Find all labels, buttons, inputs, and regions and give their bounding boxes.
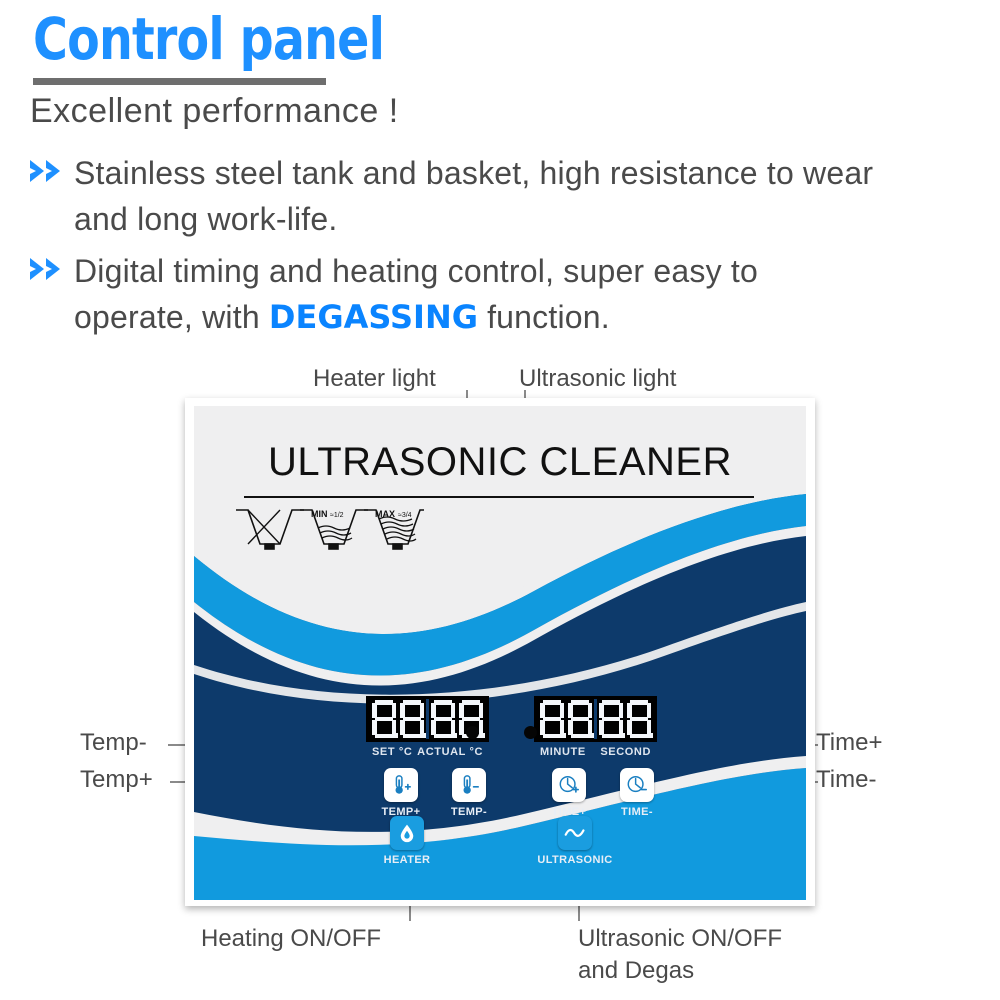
callout-ultrasonic-onoff: Ultrasonic ON/OFF and Degas [578,923,782,987]
svg-text:MAX: MAX [375,509,395,519]
heater-label: HEATER [352,854,462,866]
clock-plus-icon [558,774,580,796]
svg-text:≈3/4: ≈3/4 [398,512,412,519]
feature-line-2-post: function. [478,299,610,335]
brand-title: ULTRASONIC CLEANER [194,440,806,485]
temp-minus-label: TEMP- [414,806,524,818]
actual-temp-label: ACTUAL °C [417,746,483,758]
callout-ultrasonic-onoff-line1: Ultrasonic ON/OFF [578,925,782,952]
ultrasonic-indicator-light [524,726,537,739]
clock-minus-icon [626,774,648,796]
page-root: Control panel Excellent performance ! St… [0,0,1000,1000]
callout-heater-light: Heater light [313,365,436,393]
svg-text:MIN: MIN [311,509,328,519]
callout-ultrasonic-light: Ultrasonic light [519,365,676,393]
seven-segment-digit [430,699,456,739]
seven-segment-digit [567,699,593,739]
seven-segment-digit [371,699,397,739]
thermometer-minus-icon [458,774,480,796]
ultrasonic-button[interactable] [558,816,592,850]
callout-temp-plus: Temp+ [80,766,153,794]
feature-text: Digital timing and heating control, supe… [74,248,758,340]
feature-line-1: Stainless steel tank and basket, high re… [74,155,873,191]
time-minus-button[interactable] [620,768,654,802]
seven-segment-digit [626,699,652,739]
list-item: Stainless steel tank and basket, high re… [28,150,983,242]
chevron-double-right-icon [28,150,74,196]
heater-button[interactable] [390,816,424,850]
callout-time-minus: Time- [816,766,876,794]
brand-underline [244,496,754,498]
feature-text: Stainless steel tank and basket, high re… [74,150,873,242]
time-display: MINUTE SECOND [534,696,657,758]
temperature-display-labels: SET °C ACTUAL °C [366,746,489,758]
page-subtitle: Excellent performance ! [30,92,399,131]
list-item: Digital timing and heating control, supe… [28,248,983,340]
feature-line-2-pre: operate, with [74,299,269,335]
page-title: Control panel [33,8,384,70]
control-panel: ULTRASONIC CLEANER [185,398,815,906]
feature-list: Stainless steel tank and basket, high re… [28,150,983,346]
degassing-highlight: DEGASSING [269,298,478,336]
minute-label: MINUTE [540,746,586,758]
heater-indicator-light [466,726,479,739]
control-panel-face: ULTRASONIC CLEANER [194,406,806,900]
time-plus-button[interactable] [552,768,586,802]
feature-line-1: Digital timing and heating control, supe… [74,253,758,289]
tank-level-icons: MIN ≈1/2 MAX ≈3/4 [234,504,424,557]
ultrasonic-label: ULTRASONIC [520,854,630,866]
set-temp-label: SET °C [372,746,412,758]
time-digits [534,696,657,742]
svg-text:≈1/2: ≈1/2 [330,512,344,519]
callout-temp-minus: Temp- [80,729,147,757]
seven-segment-digit [399,699,425,739]
callout-ultrasonic-onoff-line2: and Degas [578,957,694,984]
sound-wave-icon [564,823,586,843]
time-display-labels: MINUTE SECOND [534,746,657,758]
thermometer-plus-icon [390,774,412,796]
second-label: SECOND [600,746,651,758]
callout-heating-onoff: Heating ON/OFF [201,923,381,955]
chevron-double-right-icon [28,248,74,294]
water-drop-icon [397,823,417,843]
seven-segment-digit [539,699,565,739]
time-minus-label: TIME- [582,806,692,818]
temp-minus-button[interactable] [452,768,486,802]
title-underline [33,78,326,85]
seven-segment-digit [598,699,624,739]
callout-time-plus: Time+ [816,729,882,757]
feature-line-2: and long work-life. [74,201,338,237]
temp-plus-button[interactable] [384,768,418,802]
